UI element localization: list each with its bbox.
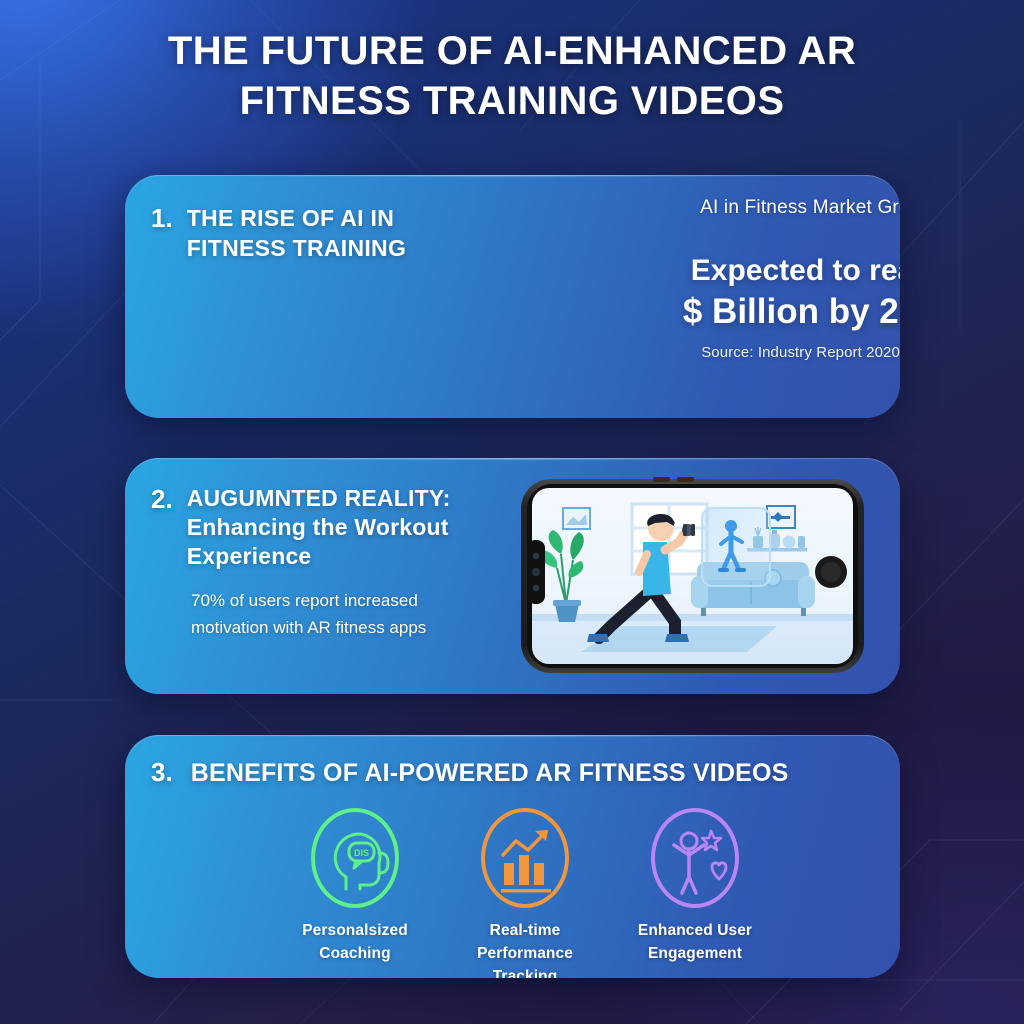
svg-text:DIS: DIS: [354, 848, 369, 858]
page-title-line-1: THE FUTURE OF AI-ENHANCED AR: [0, 26, 1024, 76]
ai-head-coaching-icon: DIS: [308, 805, 402, 911]
benefit-label-line-2: Performance Tracking: [477, 945, 573, 978]
phone-rear-lens: [815, 556, 847, 588]
benefit-label-performance-tracking: Real-time Performance Tracking: [445, 919, 605, 978]
card-1-heading-line-1: THE RISE OF AI IN: [187, 205, 394, 231]
card-3-heading: BENEFITS OF AI-POWERED AR FITNESS VIDEOS: [191, 757, 789, 789]
market-growth-label: AI in Fitness Market Growth: [615, 197, 900, 219]
page-title: THE FUTURE OF AI-ENHANCED AR FITNESS TRA…: [0, 26, 1024, 126]
stat-source-text: Source: Industry Report 2020-2025: [615, 344, 900, 361]
benefit-label-line-1: Enhanced User: [638, 922, 752, 939]
ar-workout-phone-mockup: [515, 476, 870, 676]
card-2-text-block: 2. AUGUMNTED REALITY: Enhancing the Work…: [151, 484, 511, 641]
benefit-label-user-engagement: Enhanced User Engagement: [615, 919, 775, 965]
phone-camera-notch: [527, 540, 545, 604]
card-2-body-line-2: motivation with AR fitness apps: [191, 618, 426, 637]
phone-button-volume[interactable]: [653, 477, 670, 482]
card-3-number: 3.: [151, 757, 173, 788]
benefit-item-user-engagement[interactable]: Enhanced User Engagement: [615, 805, 775, 978]
section-card-augmented-reality[interactable]: 2. AUGUMNTED REALITY: Enhancing the Work…: [125, 458, 900, 694]
infographic-canvas: THE FUTURE OF AI-ENHANCED AR FITNESS TRA…: [0, 0, 1024, 1024]
page-title-line-2: FITNESS TRAINING VIDEOS: [0, 76, 1024, 126]
benefit-item-performance-tracking[interactable]: Real-time Performance Tracking: [445, 805, 605, 978]
card-2-body-line-1: 70% of users report increased: [191, 591, 418, 610]
scene-picture-frame-left: [563, 508, 590, 529]
ar-hologram-panel: [702, 508, 770, 586]
benefit-item-personalized-coaching[interactable]: DIS Personalsized Coaching: [275, 805, 435, 978]
stat-headline-line-1: Expected to reach: [615, 252, 900, 290]
scene-picture-frame-right: [767, 506, 795, 528]
card-1-stat-block: AI in Fitness Market Growth Expected to …: [615, 197, 900, 361]
card-1-heading: THE RISE OF AI IN FITNESS TRAINING: [187, 203, 406, 263]
section-card-benefits[interactable]: 3. BENEFITS OF AI-POWERED AR FITNESS VID…: [125, 735, 900, 978]
benefit-label-line-2: Engagement: [648, 945, 742, 962]
card-1-text-block: 1. THE RISE OF AI IN FITNESS TRAINING: [151, 203, 501, 263]
card-2-heading: AUGUMNTED REALITY: Enhancing the Workout…: [187, 484, 451, 571]
stat-headline-line-2: $ Billion by 2025: [615, 290, 900, 333]
benefit-label-personalized-coaching: Personalsized Coaching: [275, 919, 435, 965]
phone-button-power[interactable]: [677, 477, 694, 482]
section-card-rise-of-ai[interactable]: 1. THE RISE OF AI IN FITNESS TRAINING: [125, 175, 900, 418]
benefit-label-line-1: Real-time: [490, 922, 561, 939]
card-2-body-text: 70% of users report increased motivation…: [191, 587, 511, 641]
benefits-list: DIS Personalsized Coaching: [275, 805, 775, 978]
benefit-label-line-2: Coaching: [319, 945, 390, 962]
card-2-heading-line-1: AUGUMNTED REALITY:: [187, 485, 451, 511]
person-star-heart-icon: [648, 805, 742, 911]
card-2-number: 2.: [151, 484, 173, 515]
bar-chart-trend-icon: [478, 805, 572, 911]
card-1-number: 1.: [151, 203, 173, 234]
card-1-heading-line-2: FITNESS TRAINING: [187, 235, 406, 261]
card-2-heading-line-3: Experience: [187, 543, 312, 569]
card-3-header: 3. BENEFITS OF AI-POWERED AR FITNESS VID…: [151, 757, 789, 789]
benefit-label-line-1: Personalsized: [302, 922, 408, 939]
card-2-heading-line-2: Enhancing the Workout: [187, 514, 449, 540]
